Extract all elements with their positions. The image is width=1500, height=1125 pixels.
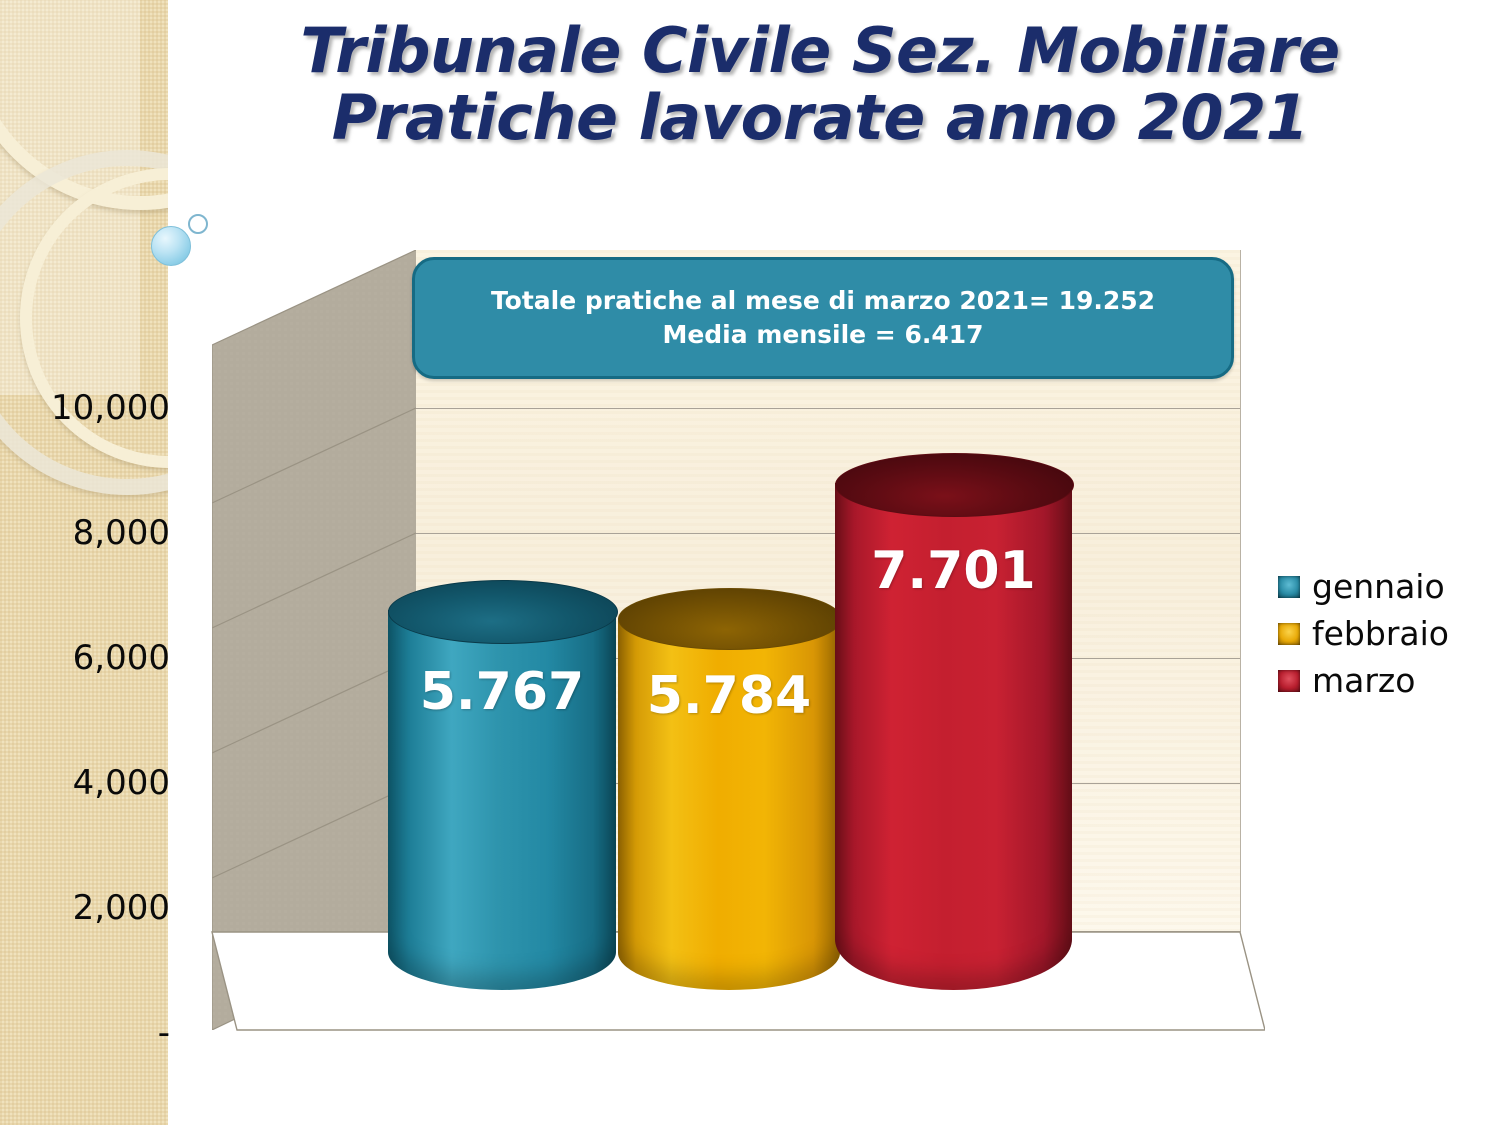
- bar-febbraio-value-label: 5.784: [618, 666, 840, 726]
- bar-marzo-value-label: 7.701: [835, 541, 1072, 601]
- chart-side-wall: [212, 250, 416, 1030]
- legend-swatch-gennaio-icon: [1278, 576, 1300, 598]
- legend-item-gennaio[interactable]: gennaio: [1278, 563, 1493, 610]
- y-tick-4000: 4,000: [10, 763, 170, 803]
- bar-marzo-top-ellipse: [835, 453, 1074, 517]
- bar-gennaio[interactable]: 5.767: [388, 610, 616, 990]
- legend-label-gennaio: gennaio: [1312, 567, 1445, 606]
- legend-label-marzo: marzo: [1312, 661, 1415, 700]
- callout-total-line: Totale pratiche al mese di marzo 2021= 1…: [491, 284, 1155, 319]
- legend-swatch-febbraio-icon: [1278, 623, 1300, 645]
- y-tick-8000: 8,000: [10, 513, 170, 553]
- legend-swatch-marzo-icon: [1278, 670, 1300, 692]
- callout-average-line: Media mensile = 6.417: [662, 318, 983, 353]
- legend-label-febbraio: febbraio: [1312, 614, 1449, 653]
- gridline-6000: [415, 533, 1240, 534]
- y-tick-zero: -: [10, 1013, 170, 1053]
- chart-legend: gennaio febbraio marzo: [1278, 563, 1493, 704]
- y-tick-2000: 2,000: [10, 888, 170, 928]
- bar-marzo[interactable]: 7.701: [835, 483, 1072, 990]
- bar-febbraio[interactable]: 5.784: [618, 618, 840, 990]
- bar-febbraio-top-ellipse: [618, 588, 842, 650]
- y-axis: 10,000 8,000 6,000 4,000 2,000 -: [0, 0, 170, 1125]
- legend-item-marzo[interactable]: marzo: [1278, 657, 1493, 704]
- legend-item-febbraio[interactable]: febbraio: [1278, 610, 1493, 657]
- y-tick-10000: 10,000: [10, 388, 170, 428]
- bar-gennaio-top-ellipse: [388, 580, 618, 644]
- cylinder-3d-chart: 5.767 5.784 7.701 10,000 8,000 6,000 4,0…: [0, 0, 1500, 1125]
- gridline-8000: [415, 408, 1240, 409]
- summary-callout-box: Totale pratiche al mese di marzo 2021= 1…: [412, 257, 1234, 379]
- bar-gennaio-value-label: 5.767: [388, 662, 616, 722]
- y-tick-6000: 6,000: [10, 638, 170, 678]
